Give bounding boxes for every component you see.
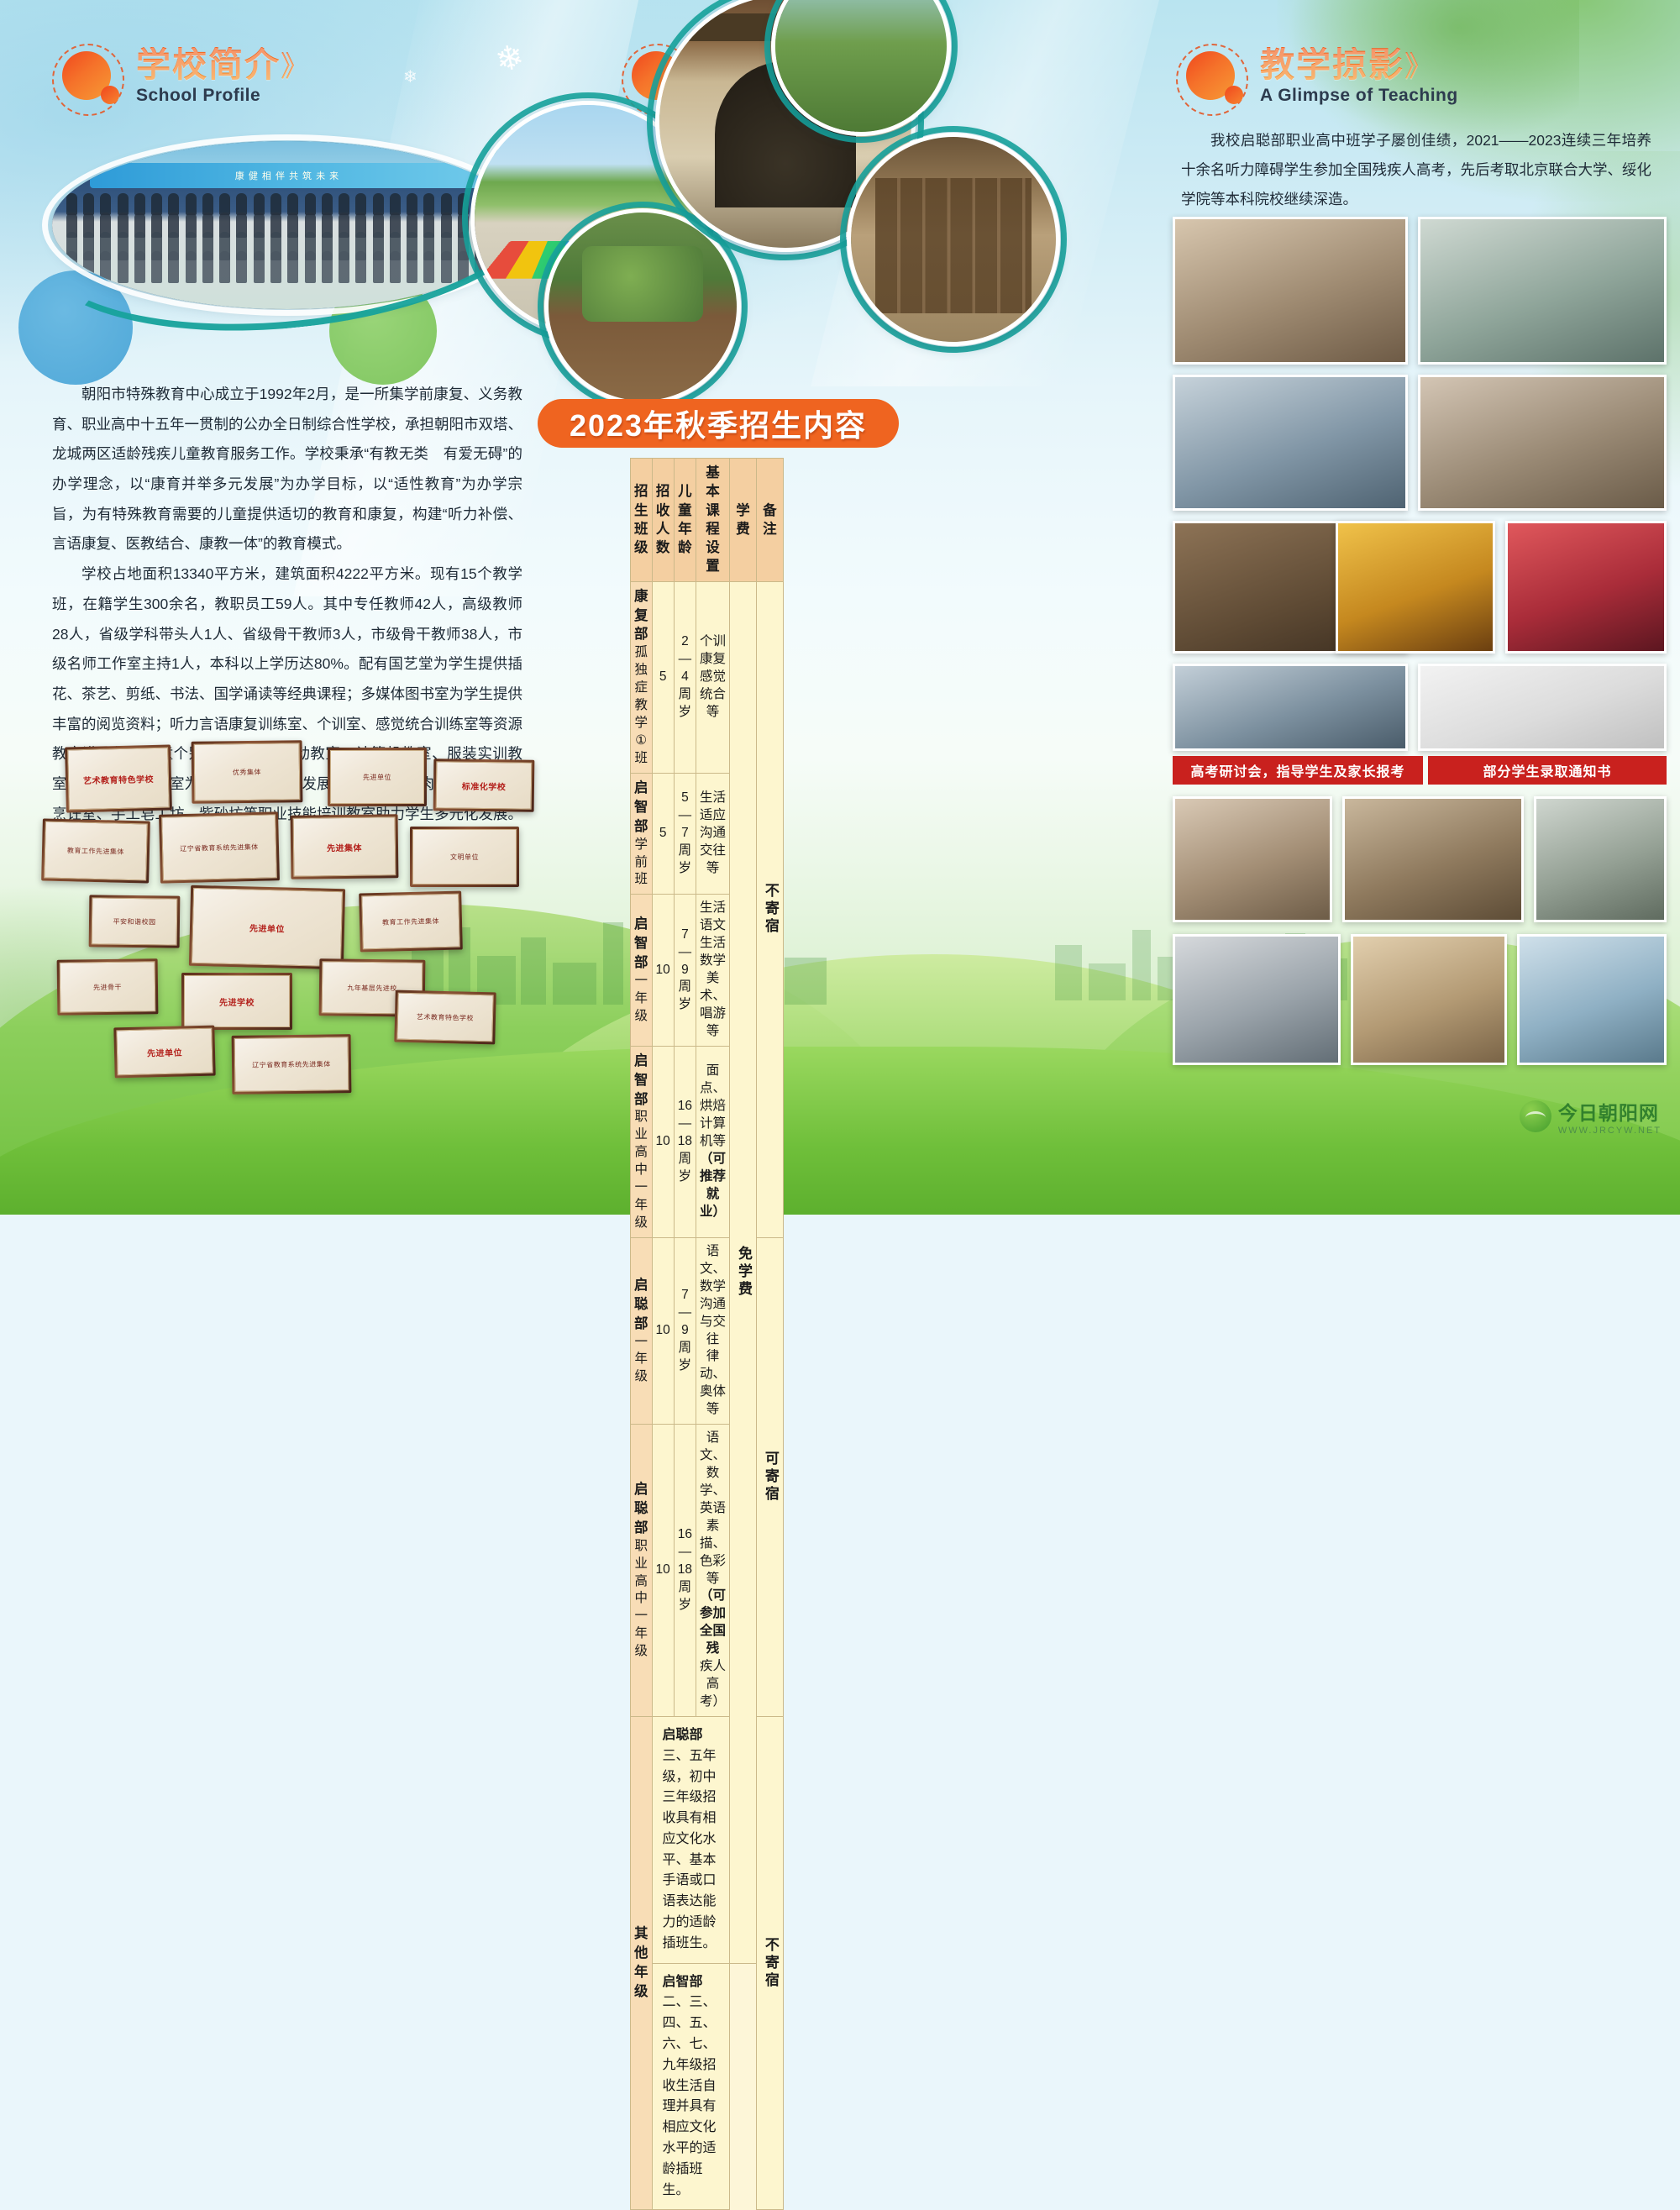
certificate-plaque: 先进单位 xyxy=(113,1026,215,1079)
photo-caption-left-text: 高考研讨会，指导学生及家长报考 xyxy=(1190,760,1404,780)
photo-computer-class xyxy=(1517,934,1667,1065)
photo-award-certificates xyxy=(1418,664,1667,751)
admission-table: 招生班级招收人数儿童年龄基本课程设置学费备注 康复部孤独症教学①班52—4周岁个… xyxy=(630,458,784,2210)
cell-class: 启智部职业高中一年级 xyxy=(631,1046,653,1237)
cell-other-note-1: 启聪部三、五年级，初中三年级招收具有相应文化水平、基本手语或口语表达能力的适龄插… xyxy=(652,1716,730,1963)
cell-courses: 生活语文生活数学美术、唱游等 xyxy=(696,895,730,1046)
cell-class: 康复部孤独症教学①班 xyxy=(631,581,653,773)
cell-courses: 面点、烘焙计算机等（可推荐就业） xyxy=(696,1046,730,1237)
photo-banner-text: 康 健 相 伴 共 筑 未 来 xyxy=(90,163,485,188)
photo-speech-training xyxy=(1418,375,1667,511)
cell-age: 5—7周岁 xyxy=(674,773,696,895)
cell-count: 5 xyxy=(652,773,674,895)
cell-class: 启智部学前班 xyxy=(631,773,653,895)
photo-caption-right: 部分学生录取通知书 xyxy=(1428,756,1667,785)
photo-sewing-class xyxy=(1534,796,1667,922)
cell-count: 10 xyxy=(652,1046,674,1237)
certificate-label: 先进单位 xyxy=(116,1028,213,1076)
env-photo-trees xyxy=(771,0,951,136)
cell-courses: 个训康复感觉统合等 xyxy=(696,581,730,773)
cell-other-note-2: 启智部二、三、四、五、六、七、九年级招收生活自理并具有相应文化水平的适龄插班生。 xyxy=(652,1963,730,2210)
certificate-label: 文明单位 xyxy=(412,829,517,885)
table-col-header: 儿童年龄 xyxy=(674,459,696,582)
certificate-plaque: 标准化学校 xyxy=(433,759,535,811)
school-group-photo: 康 健 相 伴 共 筑 未 来 xyxy=(52,141,522,309)
certificate-label: 先进集体 xyxy=(293,816,396,876)
certificate-plaque: 先进学校 xyxy=(181,973,292,1030)
cell-class: 启智部一年级 xyxy=(631,895,653,1046)
admission-table-title: 2023年秋季招生内容 xyxy=(538,399,899,448)
cell-tuition-fee: 免学费 xyxy=(730,581,757,1963)
photo-caption-right-text: 部分学生录取通知书 xyxy=(1483,760,1611,780)
certificate-label: 艺术教育特色学校 xyxy=(396,993,493,1042)
certificate-plaque: 艺术教育特色学校 xyxy=(394,990,496,1045)
cell-age: 7—9周岁 xyxy=(674,895,696,1046)
env-photo-calligraphy-wall xyxy=(847,133,1060,346)
photo-lab-microscope xyxy=(1173,934,1341,1065)
cell-note-no-boarding: 不寄宿 xyxy=(756,581,783,1237)
certificate-plaque: 先进单位 xyxy=(328,748,427,806)
photo-classroom-activity xyxy=(1173,217,1408,365)
cell-class: 启聪部一年级 xyxy=(631,1237,653,1424)
teaching-intro-text: 我校启聪部职业高中班学子屡创佳绩，2021——2023连续三年培养十余名听力障碍… xyxy=(1181,126,1651,214)
table-col-header: 基本课程设置 xyxy=(696,459,730,582)
certificate-plaque: 文明单位 xyxy=(410,827,519,887)
certificate-wall: 艺术教育特色学校优秀集体先进单位标准化学校教育工作先进集体辽宁省教育系统先进集体… xyxy=(34,739,554,1100)
photo-craft-workshop xyxy=(1342,796,1524,922)
certificate-label: 先进单位 xyxy=(192,888,343,967)
profile-paragraph-1: 朝阳市特殊教育中心成立于1992年2月，是一所集学前康复、义务教育、职业高中十五… xyxy=(52,380,522,559)
table-col-header: 招收人数 xyxy=(652,459,674,582)
certificate-label: 先进骨干 xyxy=(60,961,156,1012)
teaching-intro-paragraph: 我校启聪部职业高中班学子屡创佳绩，2021——2023连续三年培养十余名听力障碍… xyxy=(1181,126,1651,214)
admission-table-title-text: 2023年秋季招生内容 xyxy=(570,402,867,445)
table-header-row: 招生班级招收人数儿童年龄基本课程设置学费备注 xyxy=(631,459,784,582)
site-watermark: 今日朝阳网 WWW.JRCYW.NET xyxy=(1520,1097,1662,1136)
photo-teacher-student-desk xyxy=(1418,217,1667,365)
cell-courses: 语文、数学、英语素描、色彩等（可参加全国残疾人高考） xyxy=(696,1425,730,1717)
certificate-label: 艺术教育特色学校 xyxy=(67,748,170,811)
certificate-label: 优秀集体 xyxy=(194,743,301,801)
photo-thousand-hand-dance xyxy=(1336,521,1495,654)
certificate-label: 辽宁省教育系统先进集体 xyxy=(161,814,277,880)
photo-portrait-student xyxy=(1173,796,1332,922)
certificate-plaque: 辽宁省教育系统先进集体 xyxy=(232,1034,352,1095)
watermark-title: 今日朝阳网 xyxy=(1558,1097,1662,1126)
table-col-header: 备注 xyxy=(756,459,783,582)
cell-courses: 生活适应沟通交往等 xyxy=(696,773,730,895)
certificate-label: 辽宁省教育系统先进集体 xyxy=(234,1037,349,1092)
table-row: 康复部孤独症教学①班52—4周岁个训康复感觉统合等免学费不寄宿 xyxy=(631,581,784,773)
cell-age: 7—9周岁 xyxy=(674,1237,696,1424)
cell-other-grades-label: 其他年级 xyxy=(631,1716,653,2210)
certificate-plaque: 辽宁省教育系统先进集体 xyxy=(159,811,280,883)
certificate-plaque: 平安和谐校园 xyxy=(89,895,181,948)
admission-table-head: 招生班级招收人数儿童年龄基本课程设置学费备注 xyxy=(631,459,784,582)
certificate-label: 教育工作先进集体 xyxy=(361,894,460,950)
table-row: 启聪部一年级107—9周岁语文、数学沟通与交往律动、奥体等可寄宿 xyxy=(631,1237,784,1424)
photo-pottery-shelf xyxy=(1351,934,1507,1065)
photo-classroom-lesson xyxy=(1173,375,1408,511)
table-col-header: 学费 xyxy=(730,459,757,582)
cell-count: 10 xyxy=(652,1237,674,1424)
cell-class: 启聪部职业高中一年级 xyxy=(631,1425,653,1717)
table-col-header: 招生班级 xyxy=(631,459,653,582)
cell-courses: 语文、数学沟通与交往律动、奥体等 xyxy=(696,1237,730,1424)
photo-stage-performance xyxy=(1505,521,1667,654)
photo-caption-left: 高考研讨会，指导学生及家长报考 xyxy=(1173,756,1423,785)
certificate-plaque: 先进集体 xyxy=(291,814,399,879)
admission-table-body: 康复部孤独症教学①班52—4周岁个训康复感觉统合等免学费不寄宿启智部学前班55—… xyxy=(631,581,784,2210)
certificate-label: 先进学校 xyxy=(184,975,290,1027)
cell-age: 16—18周岁 xyxy=(674,1046,696,1237)
certificate-plaque: 教育工作先进集体 xyxy=(359,891,463,953)
certificate-label: 教育工作先进集体 xyxy=(44,822,148,881)
table-row-other-grades: 其他年级启聪部三、五年级，初中三年级招收具有相应文化水平、基本手语或口语表达能力… xyxy=(631,1716,784,1963)
cell-count: 10 xyxy=(652,895,674,1046)
cell-note-no-boarding-2: 不寄宿 xyxy=(756,1716,783,2210)
certificate-label: 标准化学校 xyxy=(436,761,533,809)
cell-count: 10 xyxy=(652,1425,674,1717)
certificate-label: 平安和谐校园 xyxy=(92,897,178,945)
certificate-plaque: 教育工作先进集体 xyxy=(41,818,150,883)
certificate-label: 先进单位 xyxy=(330,750,424,804)
cell-count: 5 xyxy=(652,581,674,773)
cell-note-boarding: 可寄宿 xyxy=(756,1237,783,1716)
cell-age: 16—18周岁 xyxy=(674,1425,696,1717)
certificate-plaque: 先进骨干 xyxy=(57,958,159,1015)
watermark-url: WWW.JRCYW.NET xyxy=(1558,1126,1662,1136)
cell-age: 2—4周岁 xyxy=(674,581,696,773)
certificate-plaque: 先进单位 xyxy=(189,885,345,969)
certificate-plaque: 优秀集体 xyxy=(192,740,303,804)
photo-lecture-hall xyxy=(1173,664,1408,751)
globe-icon xyxy=(1520,1100,1551,1132)
certificate-plaque: 艺术教育特色学校 xyxy=(65,744,172,812)
